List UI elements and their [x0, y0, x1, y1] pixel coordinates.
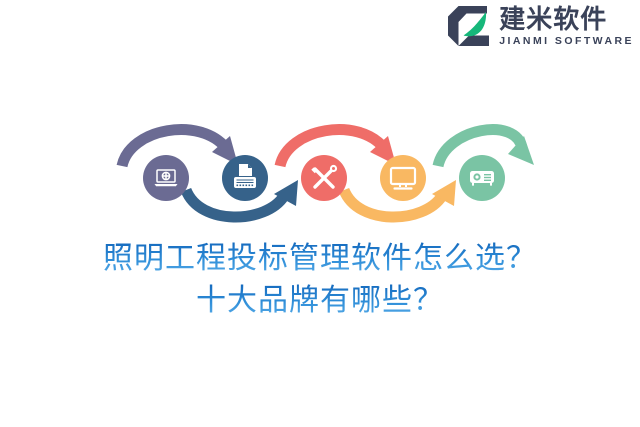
brand-name-cn: 建米软件 — [499, 6, 634, 32]
process-flow-graphic — [108, 108, 538, 236]
jianmi-logo-icon — [446, 4, 492, 48]
brand-name-en: JIANMI SOFTWARE — [499, 36, 634, 47]
brand-text: 建米软件 JIANMI SOFTWARE — [499, 6, 634, 47]
flow-step-tools — [301, 155, 347, 201]
flow-step-laptop — [143, 155, 189, 201]
flow-step-monitor — [380, 155, 426, 201]
headline-line-1: 照明工程投标管理软件怎么选？ — [0, 238, 640, 280]
flow-step-projector — [459, 155, 505, 201]
brand-logo: 建米软件 JIANMI SOFTWARE — [446, 4, 634, 48]
flow-step-fax — [222, 155, 268, 201]
page-title: 照明工程投标管理软件怎么选？ 十大品牌有哪些？ — [0, 238, 640, 322]
headline-line-2: 十大品牌有哪些？ — [0, 280, 640, 322]
